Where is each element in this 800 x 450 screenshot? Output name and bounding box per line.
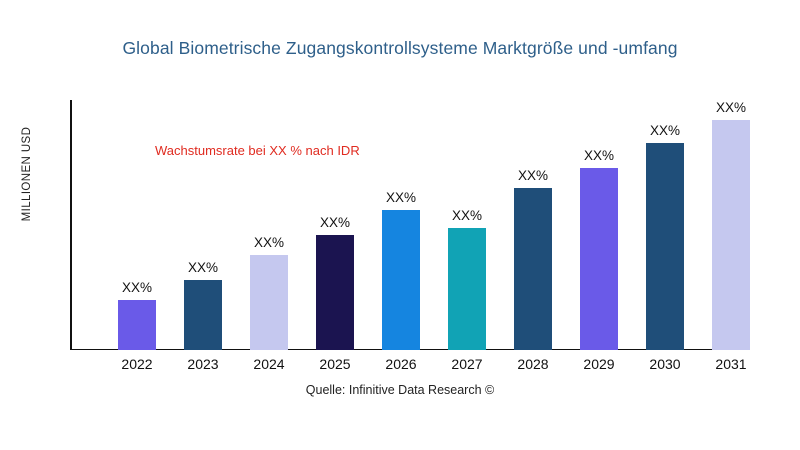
- x-tick-2025: 2025: [302, 356, 368, 372]
- bar-value-label-2030: XX%: [632, 123, 698, 138]
- source-note: Quelle: Infinitive Data Research ©: [0, 383, 800, 397]
- plot-area: XX%XX%XX%XX%XX%XX%XX%XX%XX%XX% 202220232…: [70, 100, 788, 350]
- bar-group-2025[interactable]: XX%: [302, 100, 368, 350]
- bar-2025[interactable]: [316, 235, 354, 350]
- bar-value-label-2029: XX%: [566, 148, 632, 163]
- bar-value-label-2025: XX%: [302, 215, 368, 230]
- y-axis-title: MILLIONEN USD: [21, 64, 33, 284]
- bar-group-2031[interactable]: XX%: [698, 100, 764, 350]
- x-tick-2026: 2026: [368, 356, 434, 372]
- bar-2023[interactable]: [184, 280, 222, 350]
- bar-2028[interactable]: [514, 188, 552, 350]
- x-tick-2031: 2031: [698, 356, 764, 372]
- bar-value-label-2024: XX%: [236, 235, 302, 250]
- x-tick-2028: 2028: [500, 356, 566, 372]
- chart-title: Global Biometrische Zugangskontrollsyste…: [0, 38, 800, 59]
- bar-value-label-2028: XX%: [500, 168, 566, 183]
- bar-2027[interactable]: [448, 228, 486, 350]
- chart-container: Global Biometrische Zugangskontrollsyste…: [0, 0, 800, 450]
- bar-group-2029[interactable]: XX%: [566, 100, 632, 350]
- x-tick-2030: 2030: [632, 356, 698, 372]
- bar-2030[interactable]: [646, 143, 684, 350]
- bar-group-2024[interactable]: XX%: [236, 100, 302, 350]
- bar-group-2030[interactable]: XX%: [632, 100, 698, 350]
- bar-group-2027[interactable]: XX%: [434, 100, 500, 350]
- bar-value-label-2031: XX%: [698, 100, 764, 115]
- y-axis-line: [70, 100, 72, 350]
- x-tick-2023: 2023: [170, 356, 236, 372]
- bar-value-label-2023: XX%: [170, 260, 236, 275]
- bar-2029[interactable]: [580, 168, 618, 350]
- x-tick-2024: 2024: [236, 356, 302, 372]
- bar-group-2028[interactable]: XX%: [500, 100, 566, 350]
- bar-2026[interactable]: [382, 210, 420, 350]
- bar-value-label-2026: XX%: [368, 190, 434, 205]
- bar-group-2022[interactable]: XX%: [104, 100, 170, 350]
- x-tick-2027: 2027: [434, 356, 500, 372]
- x-tick-2022: 2022: [104, 356, 170, 372]
- bar-group-2023[interactable]: XX%: [170, 100, 236, 350]
- bar-group-2026[interactable]: XX%: [368, 100, 434, 350]
- bar-value-label-2027: XX%: [434, 208, 500, 223]
- x-tick-2029: 2029: [566, 356, 632, 372]
- bar-2031[interactable]: [712, 120, 750, 350]
- bar-value-label-2022: XX%: [104, 280, 170, 295]
- bar-2022[interactable]: [118, 300, 156, 350]
- bar-2024[interactable]: [250, 255, 288, 350]
